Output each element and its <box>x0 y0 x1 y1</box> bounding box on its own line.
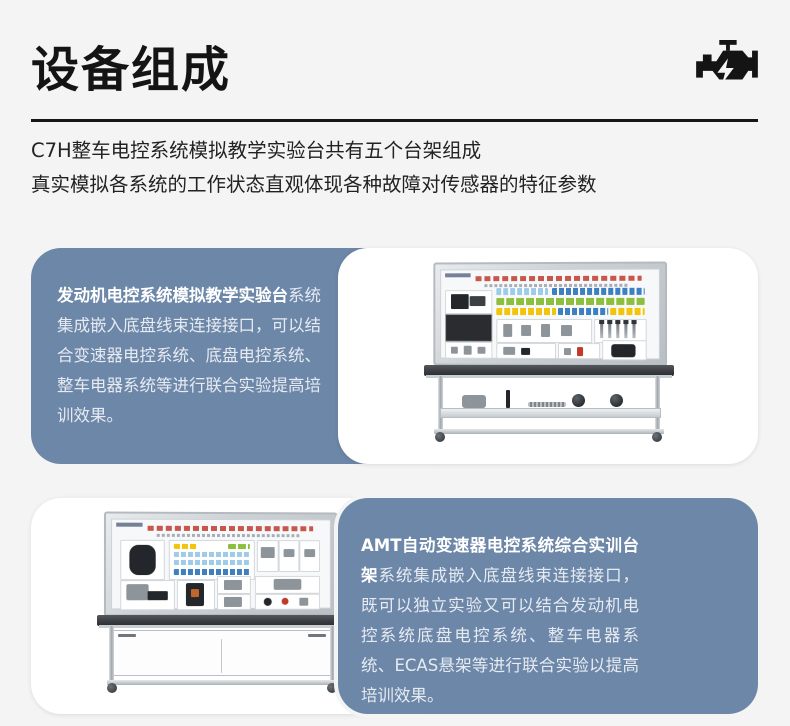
equipment-photo-engine-bench <box>338 248 758 464</box>
board-module <box>445 290 492 314</box>
feature-card-amt-transmission: AMT自动变速器电控系统综合实训台架系统集成嵌入底盘线束连接接口，既可以独立实验… <box>31 498 758 714</box>
board-module <box>299 540 320 572</box>
board-module <box>217 594 251 610</box>
bench-caster <box>327 683 337 693</box>
board-module <box>120 540 165 580</box>
board-module <box>558 343 600 359</box>
component-shaft <box>528 402 566 407</box>
board-brand-mark <box>116 523 142 527</box>
product-detail-page: 设备组成 C7H整车电控系统模拟教学实验台共有五个台架组成 真实模拟各系统的工作… <box>0 0 790 726</box>
card-description: 发动机电控系统模拟教学实验台系统集成嵌入底盘线束连接接口，可以结合变速器电控系统… <box>57 281 335 431</box>
bench-illustration <box>424 262 674 452</box>
bench-rail <box>107 680 339 685</box>
board-module <box>217 576 251 594</box>
header-subtitle: C7H整车电控系统模拟教学实验台共有五个台架组成 真实模拟各系统的工作状态直观体… <box>31 134 771 202</box>
board-frame <box>104 511 338 616</box>
board-module <box>255 594 320 610</box>
board-face <box>111 519 331 610</box>
bench-rail <box>434 429 664 434</box>
header-divider <box>31 119 758 122</box>
board-subtitle-text <box>156 534 300 537</box>
cabinet-door-divider <box>221 639 222 673</box>
bench-leg <box>438 376 443 432</box>
component-pulley <box>610 394 623 407</box>
bench-leg <box>655 376 660 432</box>
board-display <box>445 314 492 342</box>
board-face <box>440 269 660 360</box>
board-module <box>177 580 215 610</box>
component-sensor <box>506 390 510 408</box>
board-title-text <box>147 526 312 532</box>
board-module <box>257 540 279 572</box>
board-module <box>255 576 320 594</box>
component-motor <box>462 395 486 408</box>
cabinet-handle <box>308 634 326 637</box>
board-subtitle-text <box>484 284 628 287</box>
bench-lower-shelf <box>440 408 661 418</box>
title-row: 设备组成 <box>31 34 758 110</box>
component-pulley <box>572 394 585 407</box>
bench-leg <box>109 626 114 684</box>
card-body-text: 系统集成嵌入底盘线束连接接口，既可以独立实验又可以结合发动机电控系统底盘电控系统… <box>361 566 639 705</box>
page-header: 设备组成 C7H整车电控系统模拟教学实验台共有五个台架组成 真实模拟各系统的工作… <box>31 34 758 209</box>
subtitle-line-2: 真实模拟各系统的工作状态直观体现各种故障对传感器的特征参数 <box>31 168 771 202</box>
bench-caster <box>652 432 662 442</box>
board-module <box>496 319 592 343</box>
board-module <box>496 343 556 359</box>
feature-card-engine-ecu: 发动机电控系统模拟教学实验台系统集成嵌入底盘线束连接接口，可以结合变速器电控系统… <box>31 248 758 464</box>
cabinet-handle <box>118 634 136 637</box>
card-lead-title: 发动机电控系统模拟教学实验台 <box>57 286 288 305</box>
bench-cabinet <box>109 630 335 676</box>
bench-worktop-edge <box>99 625 345 628</box>
bench-leg <box>330 626 335 684</box>
bench-illustration <box>97 512 347 702</box>
card-photo-panel <box>338 248 758 464</box>
board-module <box>279 540 300 572</box>
bench-worktop-edge <box>426 375 672 378</box>
board-frame <box>433 261 667 366</box>
bench-caster <box>435 432 445 442</box>
board-title-text <box>475 276 641 282</box>
card-body-text: 系统集成嵌入底盘线束连接接口，可以结合变速器电控系统、底盘电控系统、整车电器系统… <box>57 286 321 425</box>
board-module <box>120 580 175 610</box>
page-title: 设备组成 <box>31 34 231 106</box>
board-brand-mark <box>445 273 471 277</box>
subtitle-line-1: C7H整车电控系统模拟教学实验台共有五个台架组成 <box>31 134 771 168</box>
card-description: AMT自动变速器电控系统综合实训台架系统集成嵌入底盘线束连接接口，既可以独立实验… <box>361 531 639 711</box>
bench-caster <box>107 683 117 693</box>
board-module <box>169 540 255 580</box>
board-module <box>445 342 492 359</box>
board-module <box>602 340 647 360</box>
check-engine-icon <box>696 40 758 94</box>
